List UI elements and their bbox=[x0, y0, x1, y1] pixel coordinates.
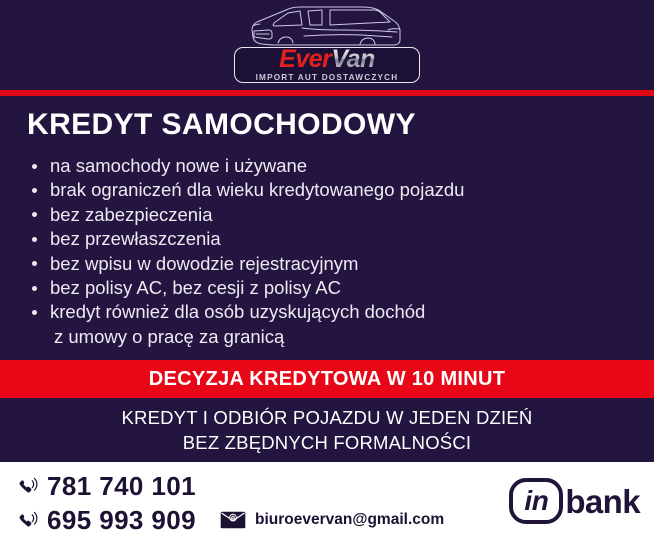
bullet-dot-icon bbox=[32, 286, 37, 291]
list-item-label: bez wpisu w dowodzie rejestracyjnym bbox=[50, 253, 358, 274]
inbank-mark: in bbox=[509, 478, 563, 524]
phone-ringing-icon bbox=[18, 509, 40, 533]
phone-row-1[interactable]: 781 740 101 bbox=[18, 471, 196, 502]
decision-banner: DECYZJA KREDYTOWA W 10 MINUT bbox=[0, 360, 654, 398]
inbank-wordmark: bank bbox=[565, 485, 640, 518]
inbank-logo: in bank bbox=[509, 478, 640, 524]
bullet-dot-icon bbox=[32, 188, 37, 193]
list-item-label: z umowy o pracę za granicą bbox=[54, 326, 284, 347]
page-title: KREDYT SAMOCHODOWY bbox=[27, 108, 416, 142]
list-item: na samochody nowe i używane bbox=[28, 154, 644, 178]
benefits-list: na samochody nowe i używane brak ogranic… bbox=[28, 154, 644, 349]
list-item: kredyt również dla osób uzyskujących doc… bbox=[28, 300, 644, 324]
logo-word-van: Van bbox=[331, 45, 374, 73]
evervan-logo: EverVan IMPORT AUT DOSTAWCZYCH bbox=[227, 1, 427, 89]
bullet-dot-icon bbox=[32, 212, 37, 217]
phone-list: 781 740 101 695 993 909 bbox=[18, 471, 196, 536]
bullet-dot-icon bbox=[32, 261, 37, 266]
decision-banner-label: DECYZJA KREDYTOWA W 10 MINUT bbox=[149, 368, 506, 391]
phone-number-2: 695 993 909 bbox=[47, 505, 196, 536]
sub-banner-line-1: KREDYT I ODBIÓR POJAZDU W JEDEN DZIEŃ bbox=[121, 405, 532, 430]
list-item: bez zabezpieczenia bbox=[28, 203, 644, 227]
bullet-dot-icon bbox=[32, 237, 37, 242]
list-item-label: kredyt również dla osób uzyskujących doc… bbox=[50, 301, 425, 322]
bullet-dot-icon bbox=[32, 164, 37, 169]
van-outline-icon bbox=[242, 3, 412, 49]
list-item-continuation: z umowy o pracę za granicą bbox=[28, 325, 644, 349]
list-item: bez wpisu w dowodzie rejestracyjnym bbox=[28, 252, 644, 276]
envelope-at-icon bbox=[220, 511, 246, 529]
logo-word-ever: Ever bbox=[279, 45, 331, 73]
bullet-dot-icon bbox=[32, 310, 37, 315]
logo-header: EverVan IMPORT AUT DOSTAWCZYCH bbox=[0, 0, 654, 90]
contact-footer: 781 740 101 695 993 909 biuroevervan@gma… bbox=[0, 462, 654, 548]
offer-body: KREDYT SAMOCHODOWY na samochody nowe i u… bbox=[0, 96, 654, 360]
phone-ringing-icon bbox=[18, 475, 40, 499]
list-item: brak ograniczeń dla wieku kredytowanego … bbox=[28, 178, 644, 202]
phone-number-1: 781 740 101 bbox=[47, 471, 196, 502]
credit-offer-poster: EverVan IMPORT AUT DOSTAWCZYCH KREDYT SA… bbox=[0, 0, 654, 548]
logo-tagline: IMPORT AUT DOSTAWCZYCH bbox=[256, 73, 399, 82]
inbank-mark-label: in bbox=[524, 487, 548, 515]
list-item: bez polisy AC, bez cesji z polisy AC bbox=[28, 276, 644, 300]
logo-wordmark: EverVan bbox=[279, 48, 375, 72]
list-item-label: bez polisy AC, bez cesji z polisy AC bbox=[50, 277, 341, 298]
sub-banner: KREDYT I ODBIÓR POJAZDU W JEDEN DZIEŃ BE… bbox=[0, 398, 654, 462]
list-item: bez przewłaszczenia bbox=[28, 227, 644, 251]
list-item-label: na samochody nowe i używane bbox=[50, 155, 307, 176]
email-row[interactable]: biuroevervan@gmail.com bbox=[220, 511, 444, 529]
phone-row-2[interactable]: 695 993 909 bbox=[18, 505, 196, 536]
list-item-label: bez przewłaszczenia bbox=[50, 228, 221, 249]
list-item-label: brak ograniczeń dla wieku kredytowanego … bbox=[50, 179, 464, 200]
list-item-label: bez zabezpieczenia bbox=[50, 204, 213, 225]
sub-banner-line-2: BEZ ZBĘDNYCH FORMALNOŚCI bbox=[183, 430, 472, 455]
logo-plate: EverVan IMPORT AUT DOSTAWCZYCH bbox=[234, 47, 420, 83]
email-address: biuroevervan@gmail.com bbox=[255, 511, 444, 529]
